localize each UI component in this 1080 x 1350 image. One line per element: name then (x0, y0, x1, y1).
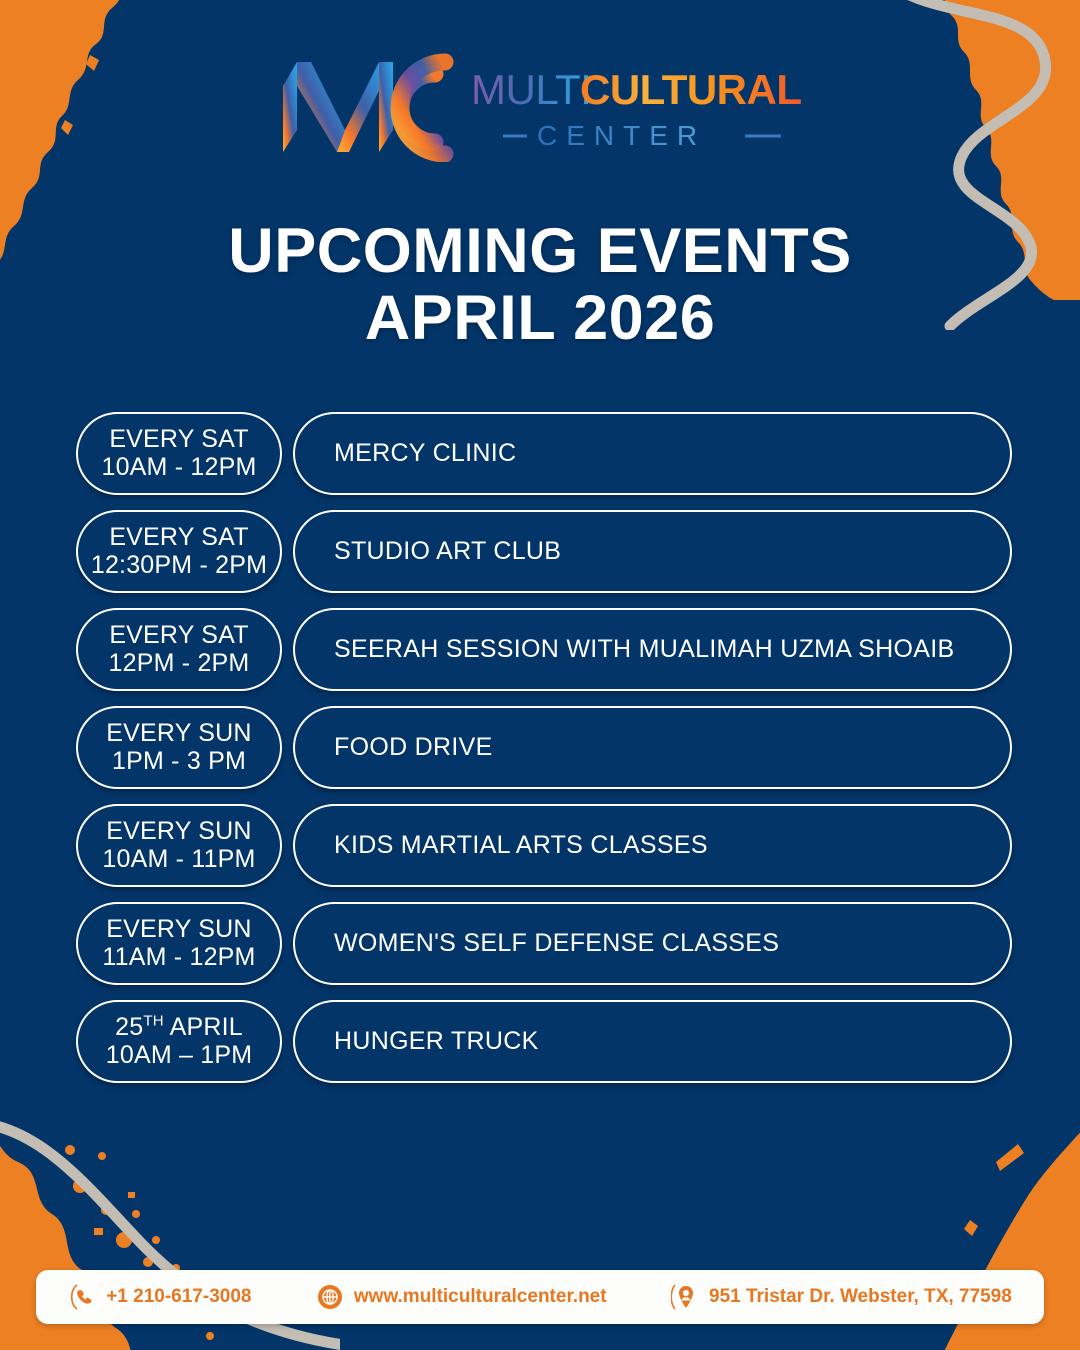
event-time-label: 11AM - 12PM (102, 944, 255, 972)
event-day-label: EVERY SAT (109, 524, 248, 552)
event-row: EVERY SAT12:30PM - 2PMSTUDIO ART CLUB (76, 510, 1012, 593)
event-time-label: 12PM - 2PM (109, 650, 250, 678)
phone-icon (68, 1283, 96, 1311)
logo-cultural-text: CULTURAL (580, 66, 802, 113)
footer-website-item[interactable]: www.multiculturalcenter.net (316, 1283, 607, 1311)
event-row: EVERY SAT12PM - 2PMSEERAH SESSION WITH M… (76, 608, 1012, 691)
footer-contact-bar: +1 210-617-3008 www.multiculturalcenter.… (36, 1270, 1044, 1324)
event-day-label: EVERY SAT (109, 426, 248, 454)
event-name-pill: MERCY CLINIC (293, 412, 1012, 495)
event-name-pill: KIDS MARTIAL ARTS CLASSES (293, 804, 1012, 887)
title-line-2: APRIL 2026 (0, 285, 1080, 352)
title-line-1: UPCOMING EVENTS (0, 218, 1080, 285)
event-time-label: 10AM - 11PM (102, 846, 255, 874)
event-name-pill: HUNGER TRUCK (293, 1000, 1012, 1083)
event-time-pill: 25TH APRIL10AM – 1PM (76, 1000, 282, 1083)
event-name-pill: STUDIO ART CLUB (293, 510, 1012, 593)
event-day-label: EVERY SUN (106, 818, 251, 846)
event-row: EVERY SAT10AM - 12PMMERCY CLINIC (76, 412, 1012, 495)
event-name-pill: SEERAH SESSION WITH MUALIMAH UZMA SHOAIB (293, 608, 1012, 691)
page-title: UPCOMING EVENTS APRIL 2026 (0, 218, 1080, 353)
footer-phone-item[interactable]: +1 210-617-3008 (68, 1283, 251, 1311)
event-name-pill: FOOD DRIVE (293, 706, 1012, 789)
footer-address-item[interactable]: 951 Tristar Dr. Webster, TX, 77598 (671, 1283, 1012, 1311)
event-time-label: 12:30PM - 2PM (91, 552, 267, 580)
event-name-pill: WOMEN'S SELF DEFENSE CLASSES (293, 902, 1012, 985)
footer-phone-text: +1 210-617-3008 (106, 1286, 251, 1308)
event-time-label: 1PM - 3 PM (112, 748, 246, 776)
logo-multi-text: MULTI (471, 66, 591, 113)
event-row: EVERY SUN11AM - 12PMWOMEN'S SELF DEFENSE… (76, 902, 1012, 985)
event-time-label: 10AM – 1PM (106, 1042, 253, 1070)
event-day-ordinal-suffix: TH (143, 1013, 163, 1030)
logo-m-mark (283, 62, 393, 152)
logo-center-text: CENTER (537, 120, 706, 151)
event-time-pill: EVERY SAT10AM - 12PM (76, 412, 282, 495)
event-row: EVERY SUN10AM - 11PMKIDS MARTIAL ARTS CL… (76, 804, 1012, 887)
location-pin-icon (671, 1283, 699, 1311)
multicultural-center-logo: MULTI CULTURAL CENTER (275, 52, 805, 162)
event-time-pill: EVERY SAT12PM - 2PM (76, 608, 282, 691)
event-time-pill: EVERY SUN1PM - 3 PM (76, 706, 282, 789)
event-time-pill: EVERY SAT12:30PM - 2PM (76, 510, 282, 593)
event-day-label: EVERY SUN (106, 720, 251, 748)
event-time-pill: EVERY SUN11AM - 12PM (76, 902, 282, 985)
footer-address-text: 951 Tristar Dr. Webster, TX, 77598 (709, 1286, 1012, 1308)
event-day-label: EVERY SAT (109, 622, 248, 650)
globe-icon (316, 1283, 344, 1311)
event-row: EVERY SUN1PM - 3 PMFOOD DRIVE (76, 706, 1012, 789)
event-day-label: EVERY SUN (106, 916, 251, 944)
event-time-pill: EVERY SUN10AM - 11PM (76, 804, 282, 887)
event-day-label: 25TH APRIL (115, 1014, 243, 1042)
footer-website-text: www.multiculturalcenter.net (354, 1286, 607, 1308)
event-time-label: 10AM - 12PM (101, 454, 256, 482)
logo-c-mark (399, 62, 445, 154)
logo-header: MULTI CULTURAL CENTER (0, 52, 1080, 162)
event-flyer: MULTI CULTURAL CENTER UPCOMING EVENTS AP… (0, 0, 1080, 1350)
events-list: EVERY SAT10AM - 12PMMERCY CLINICEVERY SA… (76, 412, 1012, 1083)
event-row: 25TH APRIL10AM – 1PMHUNGER TRUCK (76, 1000, 1012, 1083)
